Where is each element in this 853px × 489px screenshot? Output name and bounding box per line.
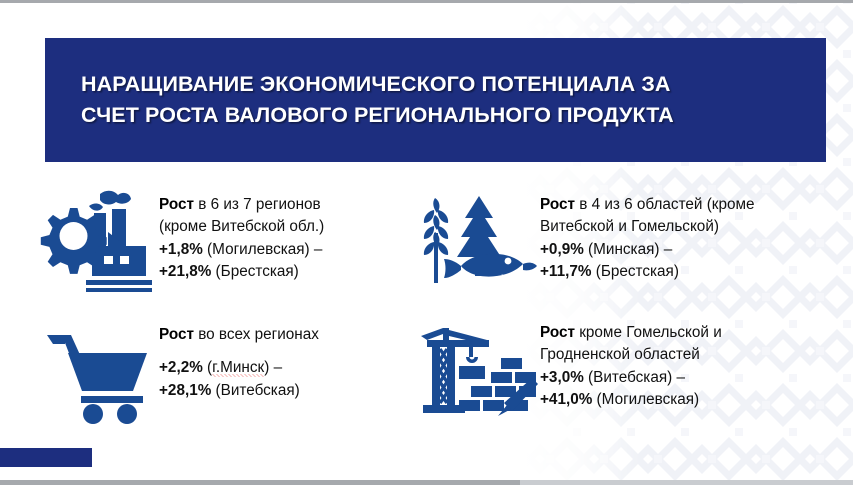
card-trade: Рост во всех регионах +2,2% (г.Минск) – … [34, 318, 424, 426]
construction-line-3: +3,0% (Витебская) – [540, 367, 845, 389]
industry-line-1: Рост в 6 из 7 регионов [159, 194, 424, 216]
page-title: НАРАЩИВАНИЕ ЭКОНОМИЧЕСКОГО ПОТЕНЦИАЛА ЗА… [45, 69, 710, 131]
trade-rest-2: ) – [264, 359, 282, 376]
industry-lead-1: Рост [159, 196, 194, 213]
trade-mid-2: ( [203, 359, 212, 376]
spellcheck-underlined-text: г.Минск [212, 359, 264, 377]
trade-line-3: +28,1% (Витебская) [159, 380, 424, 402]
trade-line-1: Рост во всех регионах [159, 324, 424, 346]
agriculture-rest-3: (Минская) – [584, 241, 672, 258]
construction-rest-1: кроме Гомельской и [575, 324, 722, 341]
window-chrome-bottom-bar-light [520, 480, 853, 485]
card-agriculture: Рост в 4 из 6 областей (кроме Витебской … [415, 188, 845, 296]
agriculture-line-1: Рост в 4 из 6 областей (кроме [540, 194, 845, 216]
slide-canvas: НАРАЩИВАНИЕ ЭКОНОМИЧЕСКОГО ПОТЕНЦИАЛА ЗА… [0, 0, 853, 489]
agriculture-rest-1: в 4 из 6 областей (кроме [575, 196, 755, 213]
crane-bricks-icon [415, 316, 540, 424]
window-chrome-bottom-bar [0, 480, 520, 485]
construction-line-1: Рост кроме Гомельской и [540, 322, 845, 344]
industry-line-4: +21,8% (Брестская) [159, 261, 424, 283]
construction-lead-1: Рост [540, 324, 575, 341]
trade-value-max: +28,1% [159, 382, 211, 399]
industry-rest-3: (Могилевская) – [203, 241, 323, 258]
shopping-cart-icon [34, 318, 159, 426]
construction-line-2: Гродненской областей [540, 344, 845, 366]
industry-value-min: +1,8% [159, 241, 203, 258]
trade-rest-3: (Витебская) [211, 382, 299, 399]
trade-lead-1: Рост [159, 326, 194, 343]
construction-rest-3: (Витебская) – [584, 369, 685, 386]
construction-rest-4: (Могилевская) [592, 391, 699, 408]
agriculture-lead-1: Рост [540, 196, 575, 213]
construction-value-max: +41,0% [540, 391, 592, 408]
industry-rest-1: в 6 из 7 регионов [194, 196, 321, 213]
card-construction-body: Рост кроме Гомельской и Гродненской обла… [540, 316, 845, 411]
agriculture-rest-4: (Брестская) [591, 263, 678, 280]
construction-line-4: +41,0% (Могилевская) [540, 389, 845, 411]
construction-value-min: +3,0% [540, 369, 584, 386]
trade-rest-1: во всех регионах [194, 326, 319, 343]
card-agriculture-body: Рост в 4 из 6 областей (кроме Витебской … [540, 188, 845, 283]
agriculture-line-4: +11,7% (Брестская) [540, 261, 845, 283]
card-trade-body: Рост во всех регионах +2,2% (г.Минск) – … [159, 318, 424, 402]
agriculture-value-max: +11,7% [540, 263, 591, 280]
wheat-tree-fish-icon [415, 188, 540, 296]
title-banner: НАРАЩИВАНИЕ ЭКОНОМИЧЕСКОГО ПОТЕНЦИАЛА ЗА… [45, 38, 826, 162]
content-area: Рост в 6 из 7 регионов (кроме Витебской … [0, 178, 853, 446]
window-chrome-top [0, 0, 853, 3]
industry-rest-4: (Брестская) [211, 263, 298, 280]
footer-accent-bar [0, 448, 92, 467]
agriculture-line-3: +0,9% (Минская) – [540, 239, 845, 261]
card-construction: Рост кроме Гомельской и Гродненской обла… [415, 316, 845, 424]
trade-line-2: +2,2% (г.Минск) – [159, 357, 424, 379]
industry-value-max: +21,8% [159, 263, 211, 280]
industry-line-2: (кроме Витебской обл.) [159, 216, 424, 238]
card-industry: Рост в 6 из 7 регионов (кроме Витебской … [34, 188, 424, 296]
agriculture-value-min: +0,9% [540, 241, 584, 258]
factory-gear-icon [34, 188, 159, 296]
agriculture-line-2: Витебской и Гомельской) [540, 216, 845, 238]
card-industry-body: Рост в 6 из 7 регионов (кроме Витебской … [159, 188, 424, 283]
trade-value-min: +2,2% [159, 359, 203, 376]
industry-line-3: +1,8% (Могилевская) – [159, 239, 424, 261]
